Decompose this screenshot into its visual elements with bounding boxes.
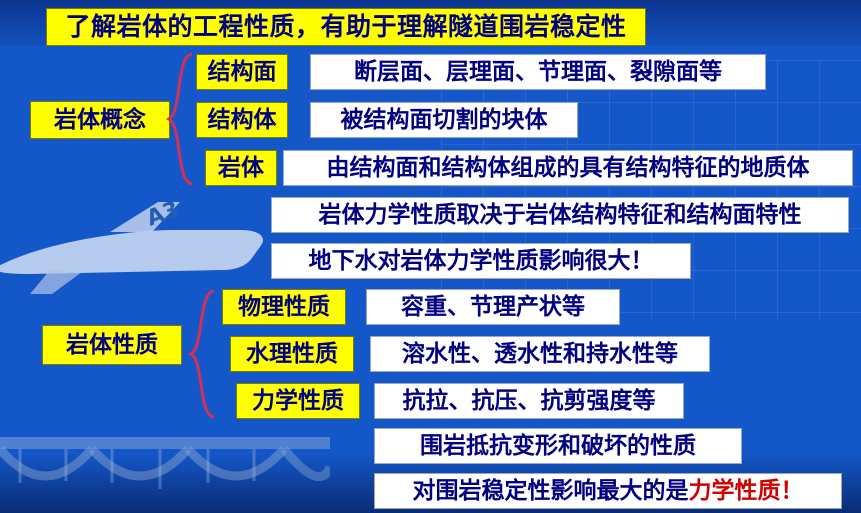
item-label-structural-plane: 结构面 — [196, 54, 288, 90]
note-deformation-resistance: 围岩抵抗变形和破坏的性质 — [374, 428, 742, 464]
background-grid-decoration — [441, 60, 861, 320]
item-label-mechanical-properties: 力学性质 — [236, 383, 360, 419]
conclusion-suffix: ！ — [781, 479, 804, 503]
conclusion-highlight: 力学性质 — [689, 479, 781, 503]
note-groundwater-influence: 地下水对岩体力学性质影响很大！ — [271, 243, 691, 279]
item-text-physical-properties: 容重、节理产状等 — [366, 289, 620, 325]
item-label-hydraulic-properties: 水理性质 — [230, 336, 354, 372]
item-label-rock-mass: 岩体 — [205, 150, 277, 186]
item-label-structural-body: 结构体 — [196, 102, 288, 138]
conclusion-box: 对围岩稳定性影响最大的是力学性质！ — [374, 473, 842, 509]
item-text-mechanical-properties: 抗拉、抗压、抗剪强度等 — [374, 383, 684, 419]
brace-concept — [166, 52, 196, 186]
conclusion-prefix: 对围岩稳定性影响最大的是 — [413, 479, 689, 503]
item-text-structural-plane: 断层面、层理面、节理面、裂隙面等 — [310, 54, 766, 90]
item-label-physical-properties: 物理性质 — [222, 289, 346, 325]
brace-properties — [188, 289, 218, 419]
group-heading-concept: 岩体概念 — [30, 101, 170, 139]
svg-text:A3: A3 — [144, 197, 183, 232]
slide-canvas: A3 了解岩体的工程性质，有助于理解隧道围岩稳定性 岩体概念 结构面 断层面、层… — [0, 0, 861, 513]
group-heading-properties: 岩体性质 — [42, 325, 182, 365]
item-text-structural-body: 被结构面切割的块体 — [310, 102, 578, 138]
item-text-rock-mass: 由结构面和结构体组成的具有结构特征的地质体 — [283, 150, 853, 186]
slide-title: 了解岩体的工程性质，有助于理解隧道围岩稳定性 — [46, 8, 646, 46]
note-mechanical-properties: 岩体力学性质取决于岩体结构特征和结构面特性 — [271, 197, 849, 233]
item-text-hydraulic-properties: 溶水性、透水性和持水性等 — [370, 336, 710, 372]
